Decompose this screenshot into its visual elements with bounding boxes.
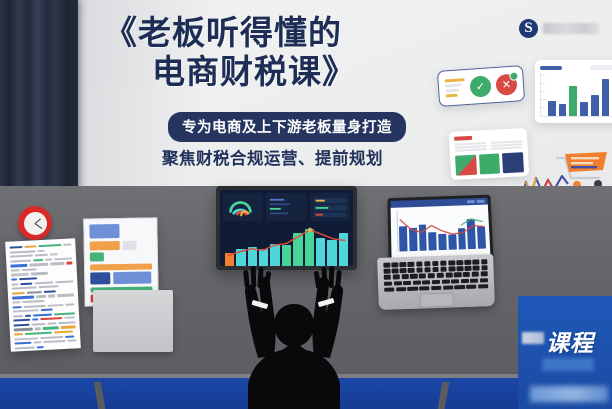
page-title: 《老板听得懂的 电商财税课》 <box>104 14 444 92</box>
key[interactable] <box>455 285 465 290</box>
key[interactable] <box>391 262 398 267</box>
card-text-lines <box>444 78 465 97</box>
approval-status-card: ✓ ✕ <box>437 65 525 107</box>
tablet-stand <box>93 290 173 352</box>
key[interactable] <box>408 286 418 291</box>
key[interactable] <box>448 260 455 265</box>
key[interactable] <box>481 265 488 270</box>
key[interactable] <box>480 272 487 277</box>
key[interactable] <box>443 285 453 290</box>
tablet-widget <box>90 263 152 270</box>
tablet-widget <box>90 241 120 251</box>
key[interactable] <box>461 278 469 283</box>
panel-line-2-blurred <box>530 386 608 402</box>
bar <box>580 102 588 116</box>
poster-canvas: 《老板听得懂的 电商财税课》 专为电商及上下游老板量身打造 聚焦财税合规运营、提… <box>0 0 612 409</box>
key[interactable] <box>392 268 399 273</box>
chart-legend-placeholder <box>590 65 612 70</box>
bar <box>559 104 567 116</box>
key[interactable] <box>473 259 480 264</box>
key[interactable] <box>454 272 461 277</box>
brand-logo <box>519 19 599 38</box>
key[interactable] <box>416 261 423 266</box>
audience-badge: 专为电商及上下游老板量身打造 <box>168 112 406 142</box>
key[interactable] <box>401 274 408 279</box>
key[interactable] <box>466 284 476 289</box>
cross-circle-icon: ✕ <box>495 73 517 95</box>
headline-line-2: 电商财税课》 <box>104 52 444 92</box>
widget-donut <box>223 193 263 221</box>
key[interactable] <box>396 287 406 292</box>
key[interactable] <box>410 274 417 279</box>
chart-plot-area <box>540 73 612 117</box>
key[interactable] <box>394 281 402 286</box>
laptop-bar-chart <box>391 205 491 255</box>
course-promo-panel: 课程 <box>518 296 612 409</box>
laptop-keyboard[interactable] <box>383 259 488 292</box>
block-1 <box>455 155 477 176</box>
laptop-trend-line <box>391 205 491 255</box>
laptop-base <box>377 254 495 310</box>
key[interactable] <box>384 275 391 280</box>
key[interactable] <box>456 260 463 265</box>
doc-tag-icon <box>454 136 472 141</box>
monitor-screen <box>220 190 353 266</box>
line <box>444 78 464 82</box>
laptop-screen <box>390 198 490 259</box>
key[interactable] <box>428 273 435 278</box>
report-document-card <box>449 128 529 180</box>
key[interactable] <box>432 261 439 266</box>
key[interactable] <box>419 286 429 291</box>
panel-prefix-blurred <box>522 332 544 344</box>
chart-y-axis <box>541 73 547 114</box>
monitor-bar-chart <box>223 223 350 266</box>
headline-line-1: 《老板听得懂的 <box>104 14 444 52</box>
key[interactable] <box>416 268 423 273</box>
tablet-widget <box>90 252 104 261</box>
brand-name-blurred <box>543 23 599 34</box>
widget-kpi-left <box>266 193 306 221</box>
panel-line-1-blurred <box>542 358 594 371</box>
laptop-lid <box>387 195 493 262</box>
subtitle-text: 聚焦财税合规运营、提前规划 <box>162 145 383 169</box>
key[interactable] <box>408 262 415 267</box>
doc-text-rows <box>454 140 522 152</box>
dashboard-top-widgets <box>223 193 350 221</box>
line <box>445 83 462 87</box>
brand-s-icon <box>519 19 538 38</box>
tablet-widget <box>122 240 136 249</box>
curtain-left <box>0 0 78 196</box>
block-2 <box>479 153 501 174</box>
check-circle-icon: ✓ <box>469 75 491 97</box>
chart-title-bar <box>540 66 562 70</box>
desktop-monitor <box>216 186 357 270</box>
key[interactable] <box>400 268 407 273</box>
tablet-widget <box>89 224 119 239</box>
floating-bar-chart-card <box>535 60 612 123</box>
panel-title: 课程 <box>546 324 594 358</box>
key[interactable] <box>457 266 464 271</box>
key[interactable] <box>432 279 440 284</box>
clock-face <box>24 212 47 235</box>
key[interactable] <box>464 260 471 265</box>
key[interactable] <box>408 268 415 273</box>
key[interactable] <box>383 263 390 268</box>
key[interactable] <box>473 266 480 271</box>
key[interactable] <box>403 280 411 285</box>
widget-kpi-right <box>310 193 350 221</box>
key[interactable] <box>424 261 431 266</box>
key[interactable] <box>419 274 426 279</box>
key[interactable] <box>480 278 488 283</box>
key[interactable] <box>384 287 394 292</box>
key[interactable] <box>470 278 478 283</box>
doc-color-blocks <box>455 152 524 176</box>
tablet-widget <box>113 271 151 284</box>
person-silhouette-hands-raised <box>228 262 360 409</box>
key[interactable] <box>463 272 470 277</box>
laptop-computer <box>378 196 494 312</box>
key[interactable] <box>481 259 488 264</box>
key[interactable] <box>436 273 443 278</box>
bar <box>602 79 610 116</box>
key[interactable] <box>393 275 400 280</box>
line <box>446 94 458 97</box>
key[interactable] <box>384 269 391 274</box>
chart-card-header <box>540 65 612 70</box>
bar <box>548 101 556 116</box>
laptop-trackpad[interactable] <box>419 293 453 308</box>
key[interactable] <box>465 266 472 271</box>
key[interactable] <box>400 262 407 267</box>
key[interactable] <box>431 286 441 291</box>
key[interactable] <box>448 267 455 272</box>
key[interactable] <box>472 272 479 277</box>
key[interactable] <box>478 284 488 289</box>
tablet-widget <box>90 272 110 284</box>
key[interactable] <box>441 279 449 284</box>
printed-report-paper <box>5 238 81 352</box>
key[interactable] <box>440 267 447 272</box>
key[interactable] <box>451 279 459 284</box>
key[interactable] <box>440 261 447 266</box>
key[interactable] <box>432 267 439 272</box>
monitor-trend-line <box>223 223 350 266</box>
key[interactable] <box>422 280 430 285</box>
bar <box>591 95 599 116</box>
line <box>445 89 459 93</box>
bar <box>569 86 577 116</box>
key[interactable] <box>384 281 392 286</box>
wall-clock <box>18 206 52 240</box>
key[interactable] <box>424 267 431 272</box>
key[interactable] <box>413 280 421 285</box>
key[interactable] <box>445 273 452 278</box>
